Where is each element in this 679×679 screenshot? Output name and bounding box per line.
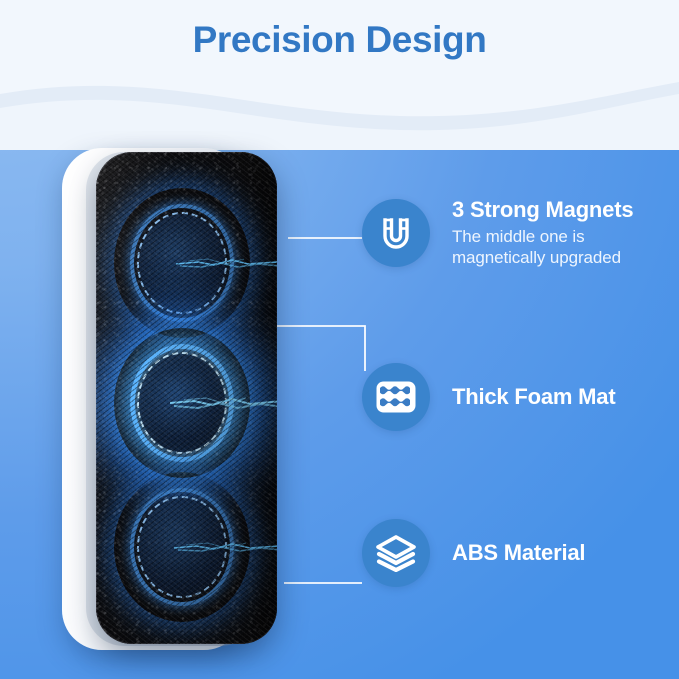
infographic-canvas: Precision Design — [0, 0, 679, 679]
foam-mattress-icon — [362, 363, 430, 431]
feature-item-foam[interactable]: Thick Foam Mat — [362, 363, 615, 431]
feature-text-abs: ABS Material — [452, 541, 585, 566]
stacked-layers-icon — [362, 519, 430, 587]
magnet-glow-middle — [130, 344, 234, 462]
horseshoe-magnet-icon — [362, 199, 430, 267]
page-title: Precision Design — [0, 19, 679, 61]
magnet-spark-middle — [168, 393, 277, 413]
magnet-spark-top — [174, 253, 277, 273]
feature-title: Thick Foam Mat — [452, 385, 615, 410]
feature-subtitle: The middle one is magnetically upgraded — [452, 226, 662, 268]
magnet-glow-top — [130, 204, 234, 322]
product-image — [62, 146, 312, 656]
feature-item-abs[interactable]: ABS Material — [362, 519, 585, 587]
feature-item-magnets[interactable]: 3 Strong Magnets The middle one is magne… — [362, 198, 662, 268]
feature-text-foam: Thick Foam Mat — [452, 385, 615, 410]
wave-divider — [0, 60, 679, 150]
magnet-spark-bottom — [172, 537, 277, 557]
foam-mat-surface — [96, 152, 277, 644]
magnet-glow-bottom — [130, 488, 234, 606]
feature-text-magnets: 3 Strong Magnets The middle one is magne… — [452, 198, 662, 268]
feature-title: ABS Material — [452, 541, 585, 566]
foam-shading — [243, 152, 277, 644]
feature-title: 3 Strong Magnets — [452, 198, 662, 223]
